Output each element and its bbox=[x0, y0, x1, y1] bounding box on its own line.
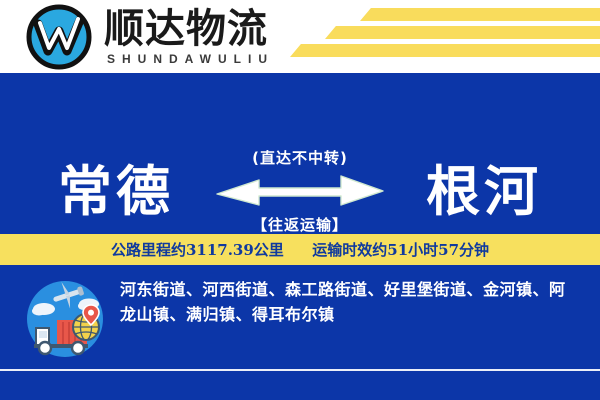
bottom-divider bbox=[0, 369, 600, 371]
logistics-route-banner: 顺达物流 SHUNDAWULIU 常德 (直达不中转) 【往返运输】 根河 公路… bbox=[0, 0, 600, 400]
stripe-2 bbox=[325, 26, 600, 39]
yellow-diagonal-stripes-icon bbox=[280, 5, 600, 67]
brand-logo: 顺达物流 SHUNDAWULIU bbox=[26, 4, 274, 70]
destination-city: 根河 bbox=[426, 164, 542, 218]
circle-swoosh-logo-icon bbox=[26, 4, 92, 70]
origin-city: 常德 bbox=[58, 164, 174, 218]
double-headed-arrow-icon bbox=[215, 174, 385, 210]
stripe-1 bbox=[360, 8, 600, 21]
distance-value: 公路里程约3117.39公里 bbox=[111, 241, 284, 259]
banner-header: 顺达物流 SHUNDAWULIU bbox=[0, 0, 600, 73]
metrics-bar: 公路里程约3117.39公里 运输时效约51小时57分钟 bbox=[0, 234, 600, 265]
route-section: 常德 (直达不中转) 【往返运输】 根河 bbox=[0, 73, 600, 234]
stripe-3 bbox=[290, 44, 600, 57]
route-center: (直达不中转) 【往返运输】 bbox=[195, 147, 405, 235]
metrics-text: 公路里程约3117.39公里 运输时效约51小时57分钟 bbox=[111, 239, 489, 260]
coverage-section: 河东街道、河西街道、森工路街道、好里堡街道、金河镇、阿龙山镇、满归镇、得耳布尔镇 bbox=[0, 272, 600, 368]
brand-name-cn: 顺达物流 bbox=[104, 8, 274, 50]
coverage-areas: 河东街道、河西街道、森工路街道、好里堡街道、金河镇、阿龙山镇、满归镇、得耳布尔镇 bbox=[120, 278, 576, 328]
brand-name-en: SHUNDAWULIU bbox=[104, 52, 274, 66]
direct-note: (直达不中转) bbox=[195, 147, 405, 168]
logistics-truck-plane-globe-icon bbox=[22, 276, 108, 362]
brand-text: 顺达物流 SHUNDAWULIU bbox=[104, 8, 274, 66]
roundtrip-note: 【往返运输】 bbox=[195, 214, 405, 235]
duration-value: 运输时效约51小时57分钟 bbox=[312, 241, 489, 259]
